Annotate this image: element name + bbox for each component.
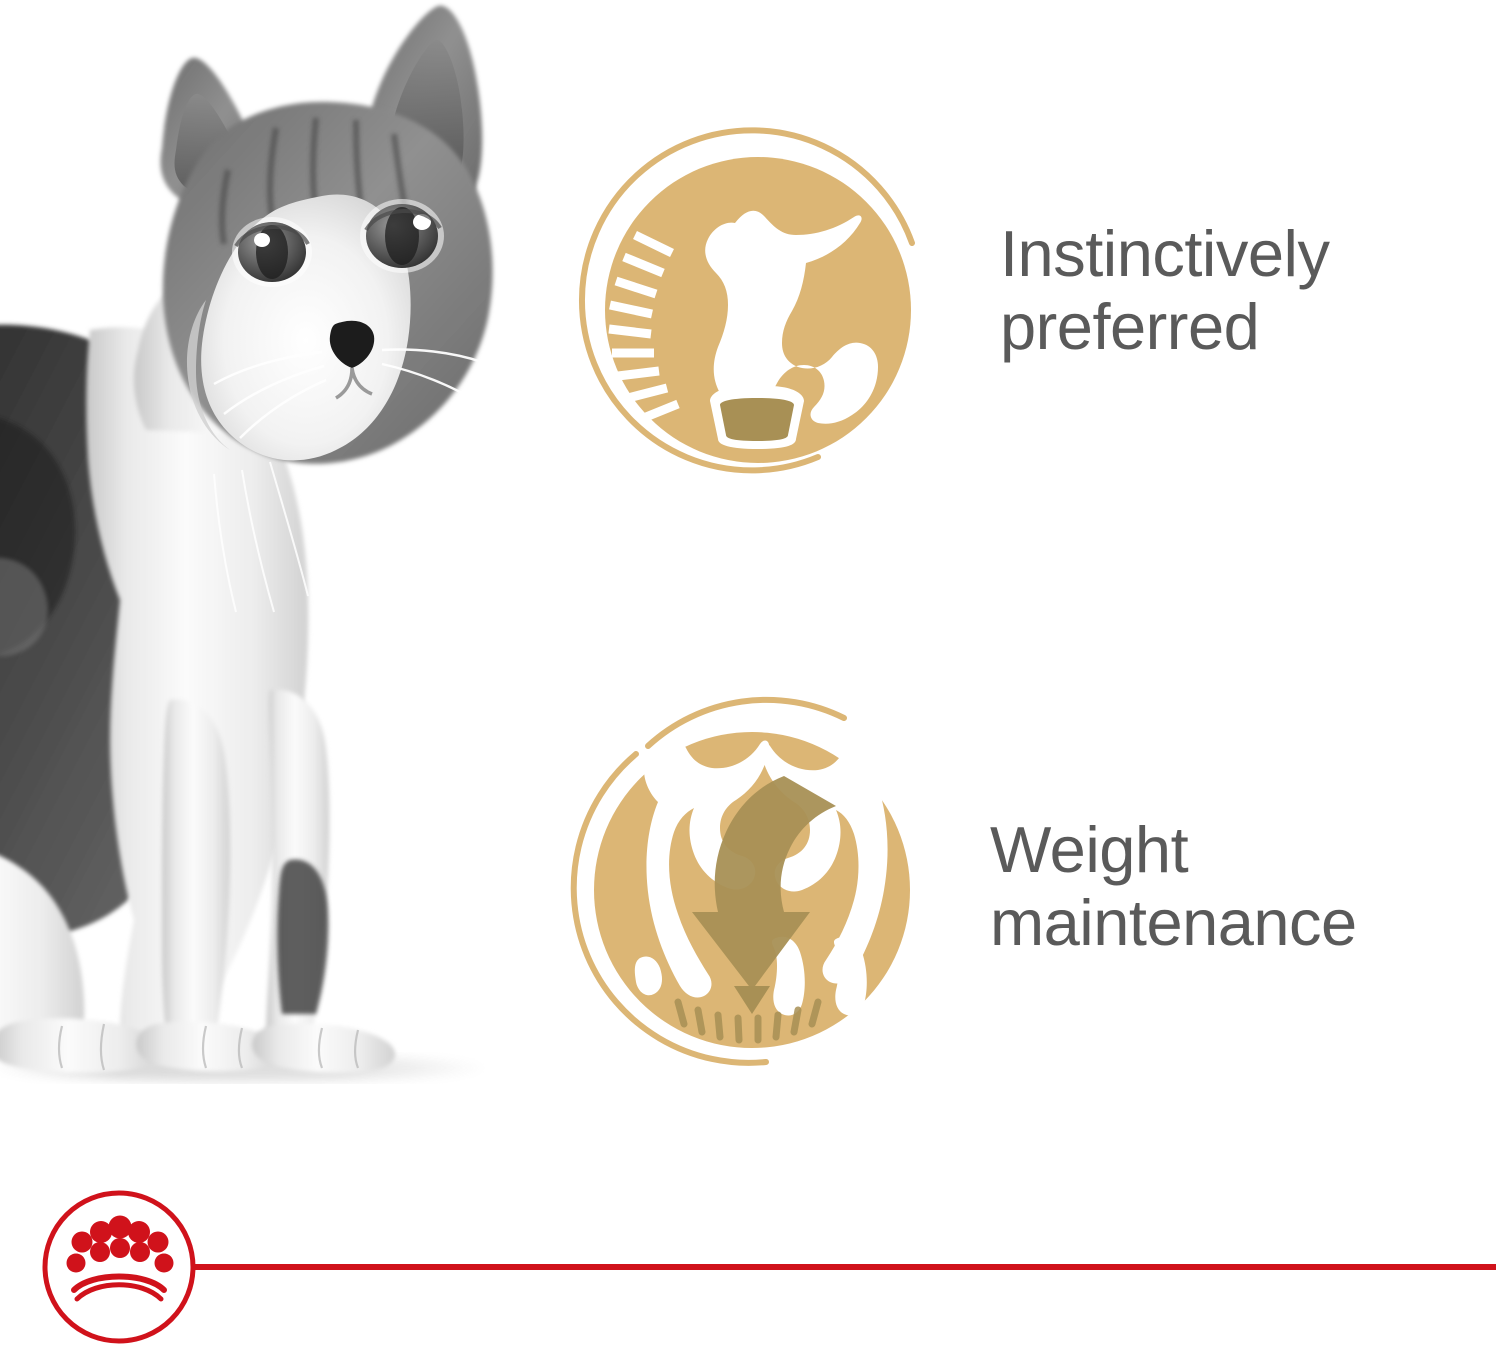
feature-label-instinctively-preferred: Instinctively preferred bbox=[1000, 218, 1329, 364]
weight-maintenance-icon bbox=[552, 690, 942, 1080]
page-canvas: Instinctively preferred bbox=[0, 0, 1500, 1349]
feature-label-weight-maintenance: Weight maintenance bbox=[990, 814, 1357, 960]
cat-photo bbox=[0, 0, 570, 1140]
feature-weight-maintenance: Weight maintenance bbox=[552, 690, 1492, 1080]
feature-instinctively-preferred: Instinctively preferred bbox=[560, 105, 1490, 485]
instinctively-preferred-icon bbox=[560, 105, 940, 485]
instinctively-preferred-badge bbox=[560, 105, 940, 485]
royal-canin-footer bbox=[0, 1180, 1500, 1349]
weight-maintenance-badge bbox=[552, 690, 942, 1080]
